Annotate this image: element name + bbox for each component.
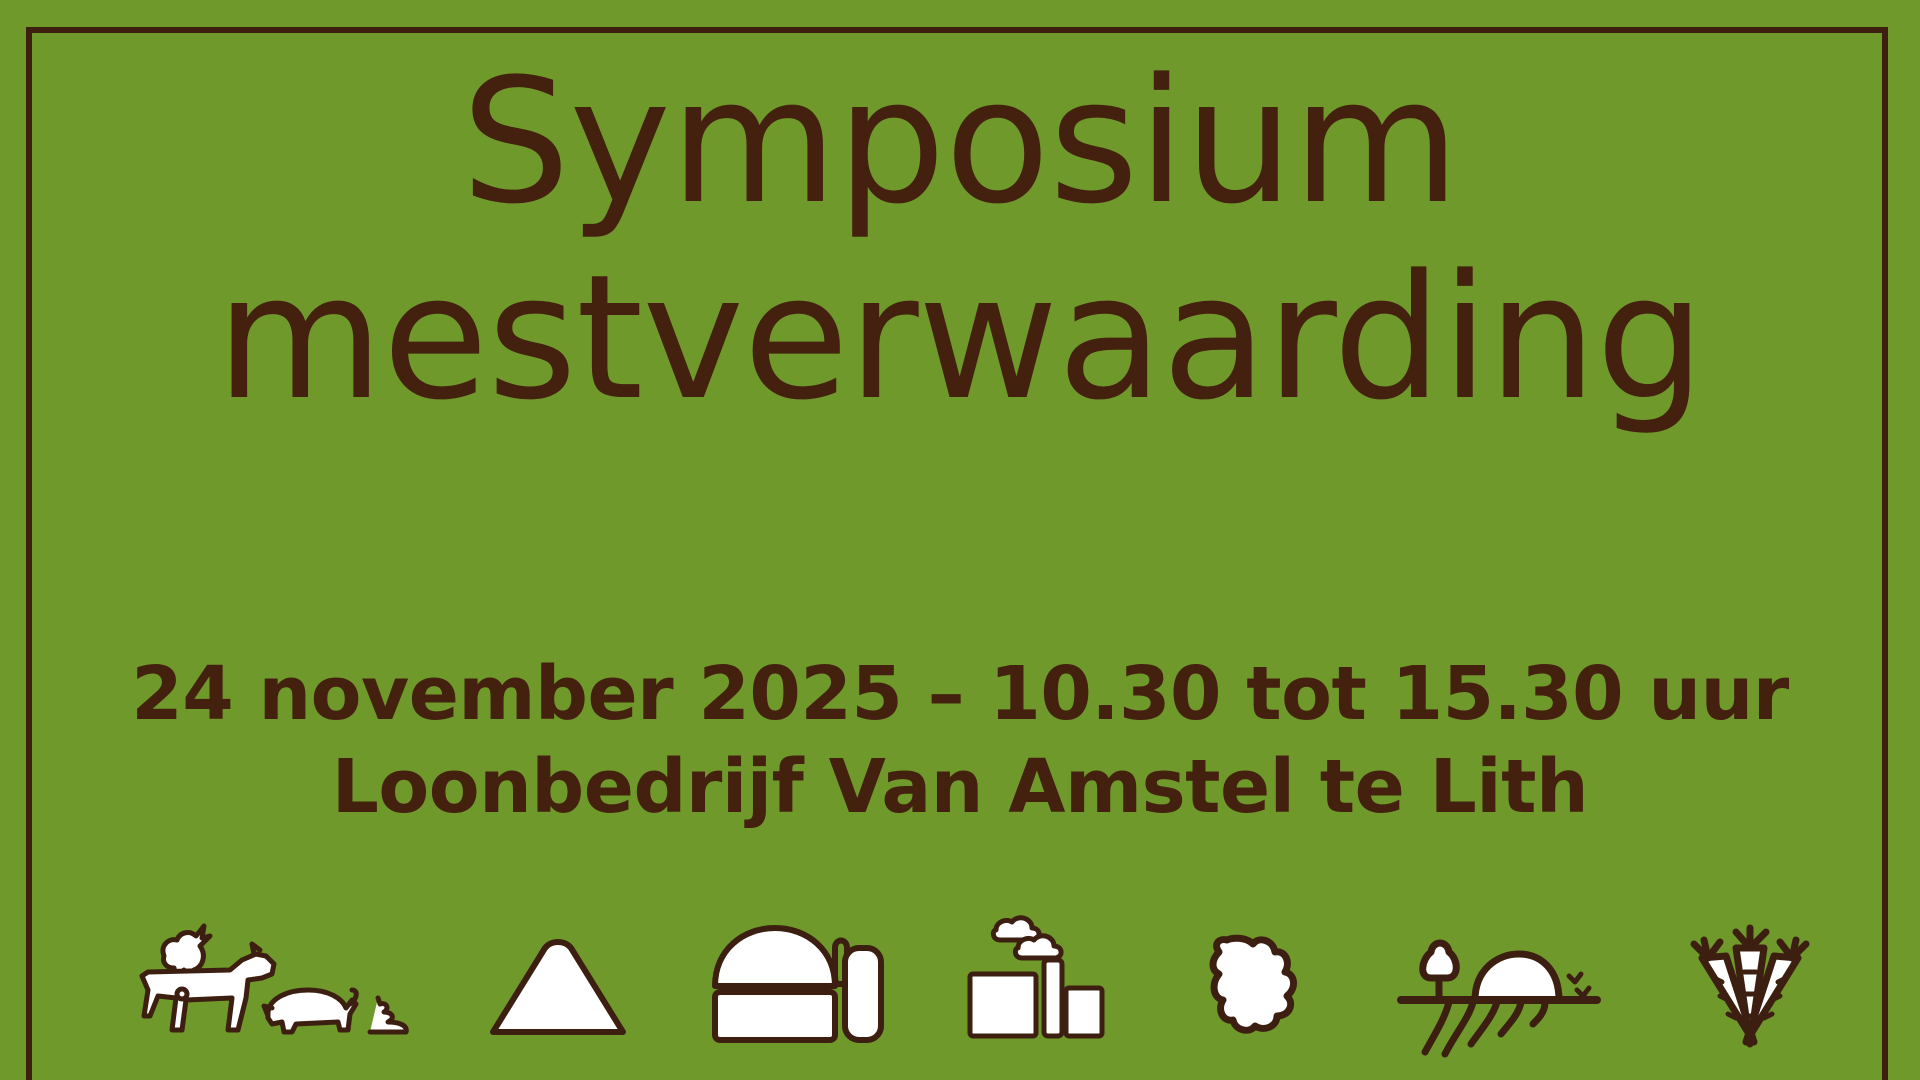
- icon-strip: [120, 862, 1820, 1062]
- carrots-crops-icon: [1680, 902, 1820, 1062]
- field-furrows-sunrise-icon: [1397, 902, 1607, 1062]
- title-line-2: mestverwaarding: [0, 240, 1920, 436]
- storage-silo-tank-icon: [707, 912, 887, 1062]
- fertilizer-sack-icon: [1193, 912, 1323, 1062]
- event-date-time: 24 november 2025 – 10.30 tot 15.30 uur: [0, 648, 1920, 741]
- event-location: Loonbedrijf Van Amstel te Lith: [0, 741, 1920, 834]
- poster-canvas: Symposium mestverwaarding 24 november 20…: [0, 0, 1920, 1080]
- title-line-1: Symposium: [0, 44, 1920, 240]
- livestock-chicken-cow-pig-manure-icon: [120, 912, 410, 1062]
- manure-heap-icon: [483, 912, 633, 1062]
- processing-factory-icon: [960, 902, 1120, 1062]
- page-title: Symposium mestverwaarding: [0, 44, 1920, 436]
- event-details: 24 november 2025 – 10.30 tot 15.30 uur L…: [0, 648, 1920, 834]
